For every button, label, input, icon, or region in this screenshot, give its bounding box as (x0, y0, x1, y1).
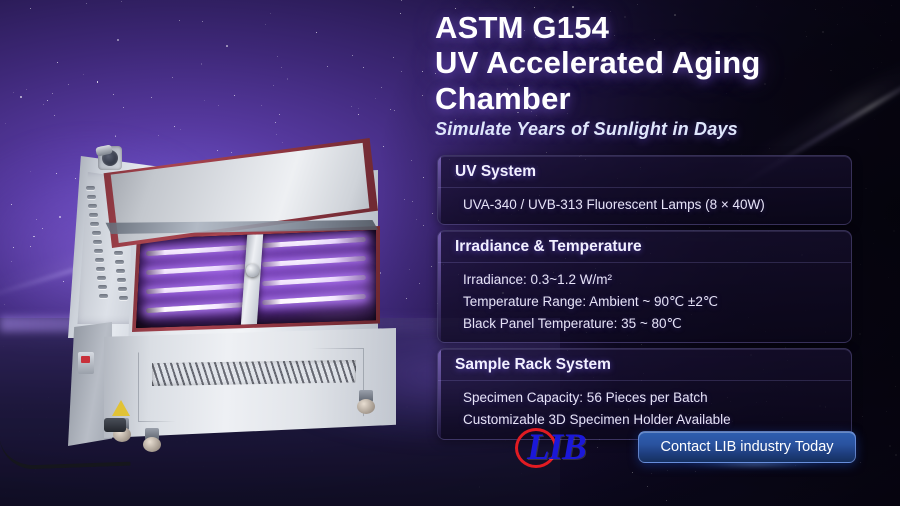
spec-row: UVA-340 / UVB-313 Fluorescent Lamps (8 ×… (463, 194, 851, 216)
spec-panel-title: UV System (438, 156, 851, 188)
caster-wheel (142, 428, 162, 452)
page-title-line-2: UV Accelerated Aging (435, 45, 865, 80)
page-title-line-1: ASTM G154 (435, 10, 865, 45)
spec-panel-title: Irradiance & Temperature (438, 231, 851, 263)
warning-triangle-icon (112, 400, 130, 416)
spec-panel-body: UVA-340 / UVB-313 Fluorescent Lamps (8 ×… (438, 188, 851, 224)
cabinet-grille (152, 360, 356, 386)
spec-panel-list: UV System UVA-340 / UVB-313 Fluorescent … (437, 155, 852, 445)
spec-panel-body: Irradiance: 0.3~1.2 W/m² Temperature Ran… (438, 263, 851, 343)
logo-text: LIB (527, 426, 586, 469)
rack-knob (246, 264, 259, 277)
spec-row: Temperature Range: Ambient ~ 90℃ ±2℃ (463, 291, 851, 313)
promo-banner: ASTM G154 UV Accelerated Aging Chamber S… (0, 0, 900, 506)
page-title-line-3: Chamber (435, 81, 865, 116)
page-title: ASTM G154 UV Accelerated Aging Chamber (435, 10, 865, 116)
spec-panel-sample-rack-system: Sample Rack System Specimen Capacity: 56… (437, 348, 852, 440)
contact-cta-button[interactable]: Contact LIB industry Today (638, 431, 856, 463)
spec-panel-title: Sample Rack System (438, 349, 851, 381)
spec-panel-uv-system: UV System UVA-340 / UVB-313 Fluorescent … (437, 155, 852, 225)
power-cable (0, 432, 131, 471)
lib-logo: LIB (513, 425, 618, 469)
spec-row: Specimen Capacity: 56 Pieces per Batch (463, 387, 851, 409)
page-subtitle: Simulate Years of Sunlight in Days (435, 119, 865, 140)
product-image-uv-chamber (0, 60, 420, 460)
spec-panel-irradiance-temperature: Irradiance & Temperature Irradiance: 0.3… (437, 230, 852, 344)
caster-wheel (356, 390, 376, 414)
chamber-lamp-compartment (136, 230, 376, 328)
spec-row: Black Panel Temperature: 35 ~ 80℃ (463, 313, 851, 335)
power-cable-plug (104, 418, 126, 432)
spec-row: Irradiance: 0.3~1.2 W/m² (463, 269, 851, 291)
power-switch-box (78, 352, 94, 374)
